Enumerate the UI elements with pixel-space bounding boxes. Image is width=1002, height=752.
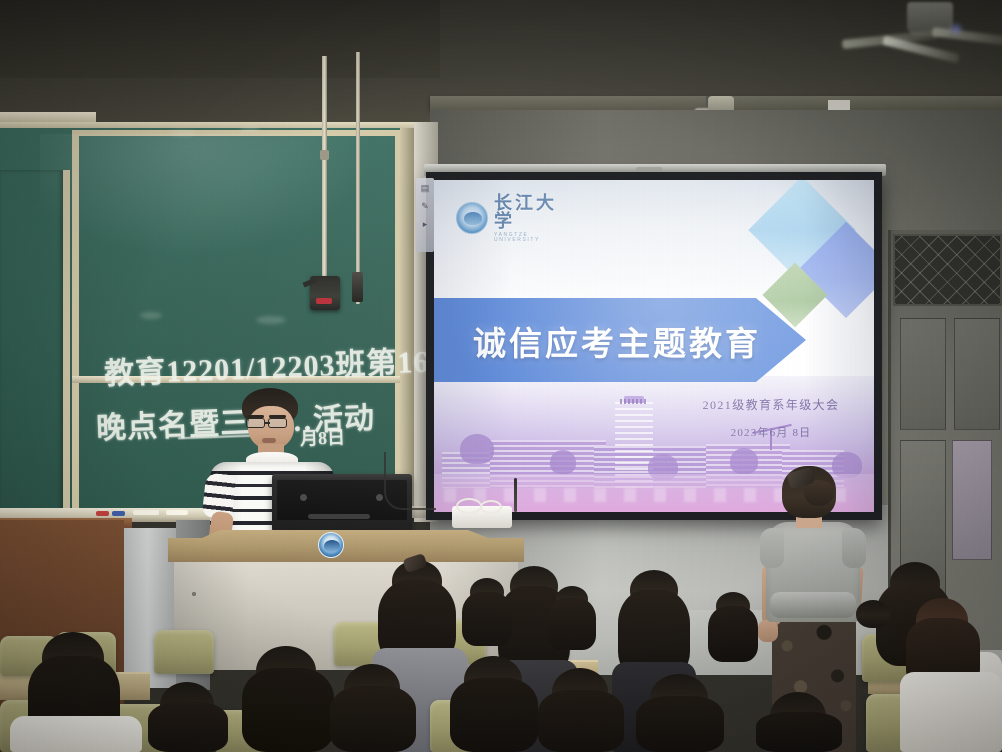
blackboard-vertical-rail xyxy=(356,52,360,304)
blackboard-vertical-rail xyxy=(322,56,327,296)
ceiling-fan-right xyxy=(852,2,1002,62)
ceiling-slab-left xyxy=(0,0,440,78)
presentation-side-toolbar[interactable]: ▤ ✎ ▸ xyxy=(416,178,434,252)
slide-title: 诚信应考主题教育 xyxy=(452,316,782,366)
student-hair xyxy=(148,702,228,752)
panel-icon[interactable]: ▤ xyxy=(421,183,430,194)
pointer-icon[interactable]: ▸ xyxy=(423,219,428,230)
monitor-stand-bar xyxy=(308,514,370,519)
student-hair xyxy=(330,686,416,752)
campus-tree xyxy=(460,434,494,464)
fan-blade xyxy=(932,27,1002,46)
door-lattice-grille xyxy=(895,236,1000,304)
chalk-blue[interactable] xyxy=(112,511,125,516)
university-name-en: YANGTZE UNIVERSITY xyxy=(494,233,576,243)
university-seal-icon xyxy=(456,202,488,234)
chalk-smudge xyxy=(140,312,162,319)
student-head xyxy=(856,600,890,628)
student-body xyxy=(900,672,1002,752)
door-panel xyxy=(954,318,1000,430)
student-hair xyxy=(538,690,624,752)
campus-tree xyxy=(550,450,576,474)
projection-screen: 诚信应考主题教育 长江大学 YANGTZE UNIVERSITY 2021级教育… xyxy=(434,180,874,512)
microphone-cable xyxy=(384,452,436,510)
chalk-smudge xyxy=(240,126,260,132)
slide-date: 2023年6月 8日 xyxy=(686,424,856,440)
student-hair xyxy=(462,592,512,646)
lecture-seat[interactable] xyxy=(154,630,214,674)
rail-mounted-device[interactable] xyxy=(310,276,340,310)
tshirt-sleeve-left xyxy=(760,528,784,568)
classroom-photo: 教育12201/12203班第16周 晚点名暨三人…活动 月8日 xyxy=(0,0,1002,752)
university-name-cn: 长江大学 xyxy=(494,194,576,230)
campus-tower-sign xyxy=(620,399,648,404)
student-hand xyxy=(758,620,778,642)
student-hair xyxy=(756,712,842,752)
university-seal-emblem xyxy=(318,532,344,558)
fan-light-glow xyxy=(948,22,964,36)
podium-ledge xyxy=(168,530,524,562)
slide-subtitle: 2021级教育系年级大会 xyxy=(686,396,856,413)
monitor-button[interactable] xyxy=(376,494,383,501)
student-hair xyxy=(636,696,724,752)
microphone-antenna xyxy=(514,478,517,512)
shirt-fold xyxy=(770,592,856,618)
university-logo-text: 长江大学 YANGTZE UNIVERSITY xyxy=(494,194,576,243)
door-window xyxy=(952,440,992,560)
cable-loop xyxy=(456,498,482,514)
campus-tree xyxy=(730,448,758,474)
cable-loop xyxy=(480,500,502,514)
pen-icon[interactable]: ✎ xyxy=(421,201,429,212)
eyeglasses-lens xyxy=(268,418,287,428)
speaker-mouth xyxy=(262,438,276,443)
rail-joint xyxy=(320,150,329,160)
door-panel xyxy=(900,318,946,430)
device-indicator xyxy=(316,298,332,304)
student-hair xyxy=(708,606,758,662)
chalk-white[interactable] xyxy=(166,510,188,515)
monitor-button[interactable] xyxy=(300,494,307,501)
chalk-red[interactable] xyxy=(96,511,109,516)
tshirt-sleeve-right xyxy=(842,528,866,568)
university-logo: 长江大学 YANGTZE UNIVERSITY xyxy=(456,198,576,238)
chalk-eraser[interactable] xyxy=(133,510,159,515)
podium-screw xyxy=(192,592,196,596)
eyeglasses-lens xyxy=(246,418,265,428)
chalk-smudge xyxy=(256,316,286,324)
rail-clip xyxy=(352,272,363,302)
student-hair xyxy=(450,678,538,752)
student-hair xyxy=(548,598,596,650)
student-body xyxy=(10,716,142,752)
student-hair xyxy=(242,668,334,752)
eyeglasses-bridge xyxy=(265,422,270,424)
chalk-smudge xyxy=(170,130,196,136)
